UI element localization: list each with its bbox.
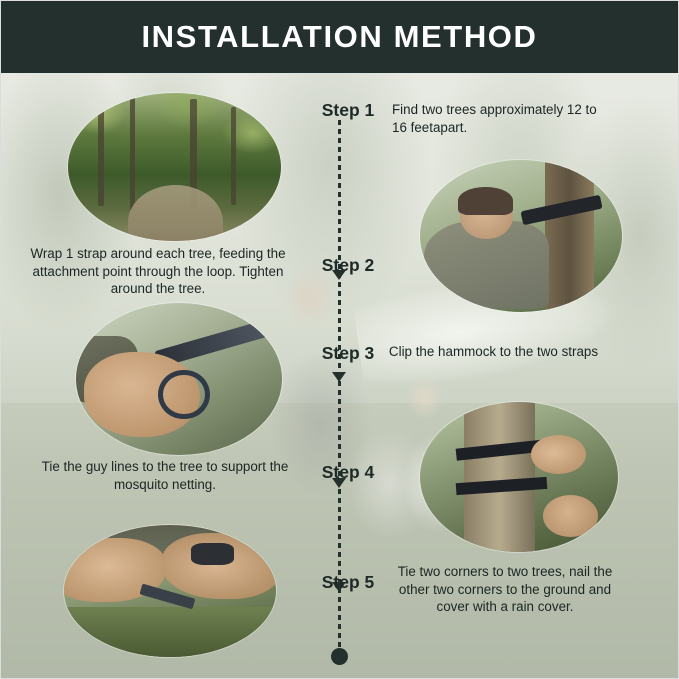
step-2-text: Wrap 1 strap around each tree, feeding t… xyxy=(24,245,292,298)
tree-trunk xyxy=(231,107,236,205)
forest-trail-photo xyxy=(68,93,281,241)
carabiner-clip-photo xyxy=(76,303,282,455)
step-4-label: Step 4 xyxy=(293,462,403,483)
tree-trunk xyxy=(464,402,535,552)
header-bar: INSTALLATION METHOD xyxy=(0,0,679,73)
person-head xyxy=(543,495,598,537)
staking-rain-cover-photo xyxy=(64,525,276,657)
page-title: INSTALLATION METHOD xyxy=(141,19,537,55)
person-hand xyxy=(531,435,586,474)
wristwatch xyxy=(191,543,233,564)
carabiner-icon xyxy=(158,370,209,420)
tree-trunk xyxy=(98,101,104,206)
person-hair xyxy=(458,187,513,214)
infographic-page: INSTALLATION METHOD Step 1 Find two tree… xyxy=(0,0,679,679)
step-4-text: Tie the guy lines to the tree to support… xyxy=(40,458,290,493)
timeline-endpoint-dot xyxy=(331,648,348,665)
tree-trunk xyxy=(130,95,135,210)
step-3-text: Clip the hammock to the two straps xyxy=(386,343,601,361)
grass-ground xyxy=(64,607,276,657)
step-1-text: Find two trees approximately 12 to 16 fe… xyxy=(392,101,608,136)
step-5-text: Tie two corners to two trees, nail the o… xyxy=(382,563,628,616)
tree-trunk xyxy=(545,160,593,312)
man-wrapping-strap-photo xyxy=(420,160,622,312)
step-2-label: Step 2 xyxy=(293,255,403,276)
forest-path xyxy=(128,185,224,241)
timeline-arrow-2-icon xyxy=(332,372,346,382)
guy-lines-on-trunk-photo xyxy=(420,402,618,552)
step-1-label: Step 1 xyxy=(293,100,403,121)
